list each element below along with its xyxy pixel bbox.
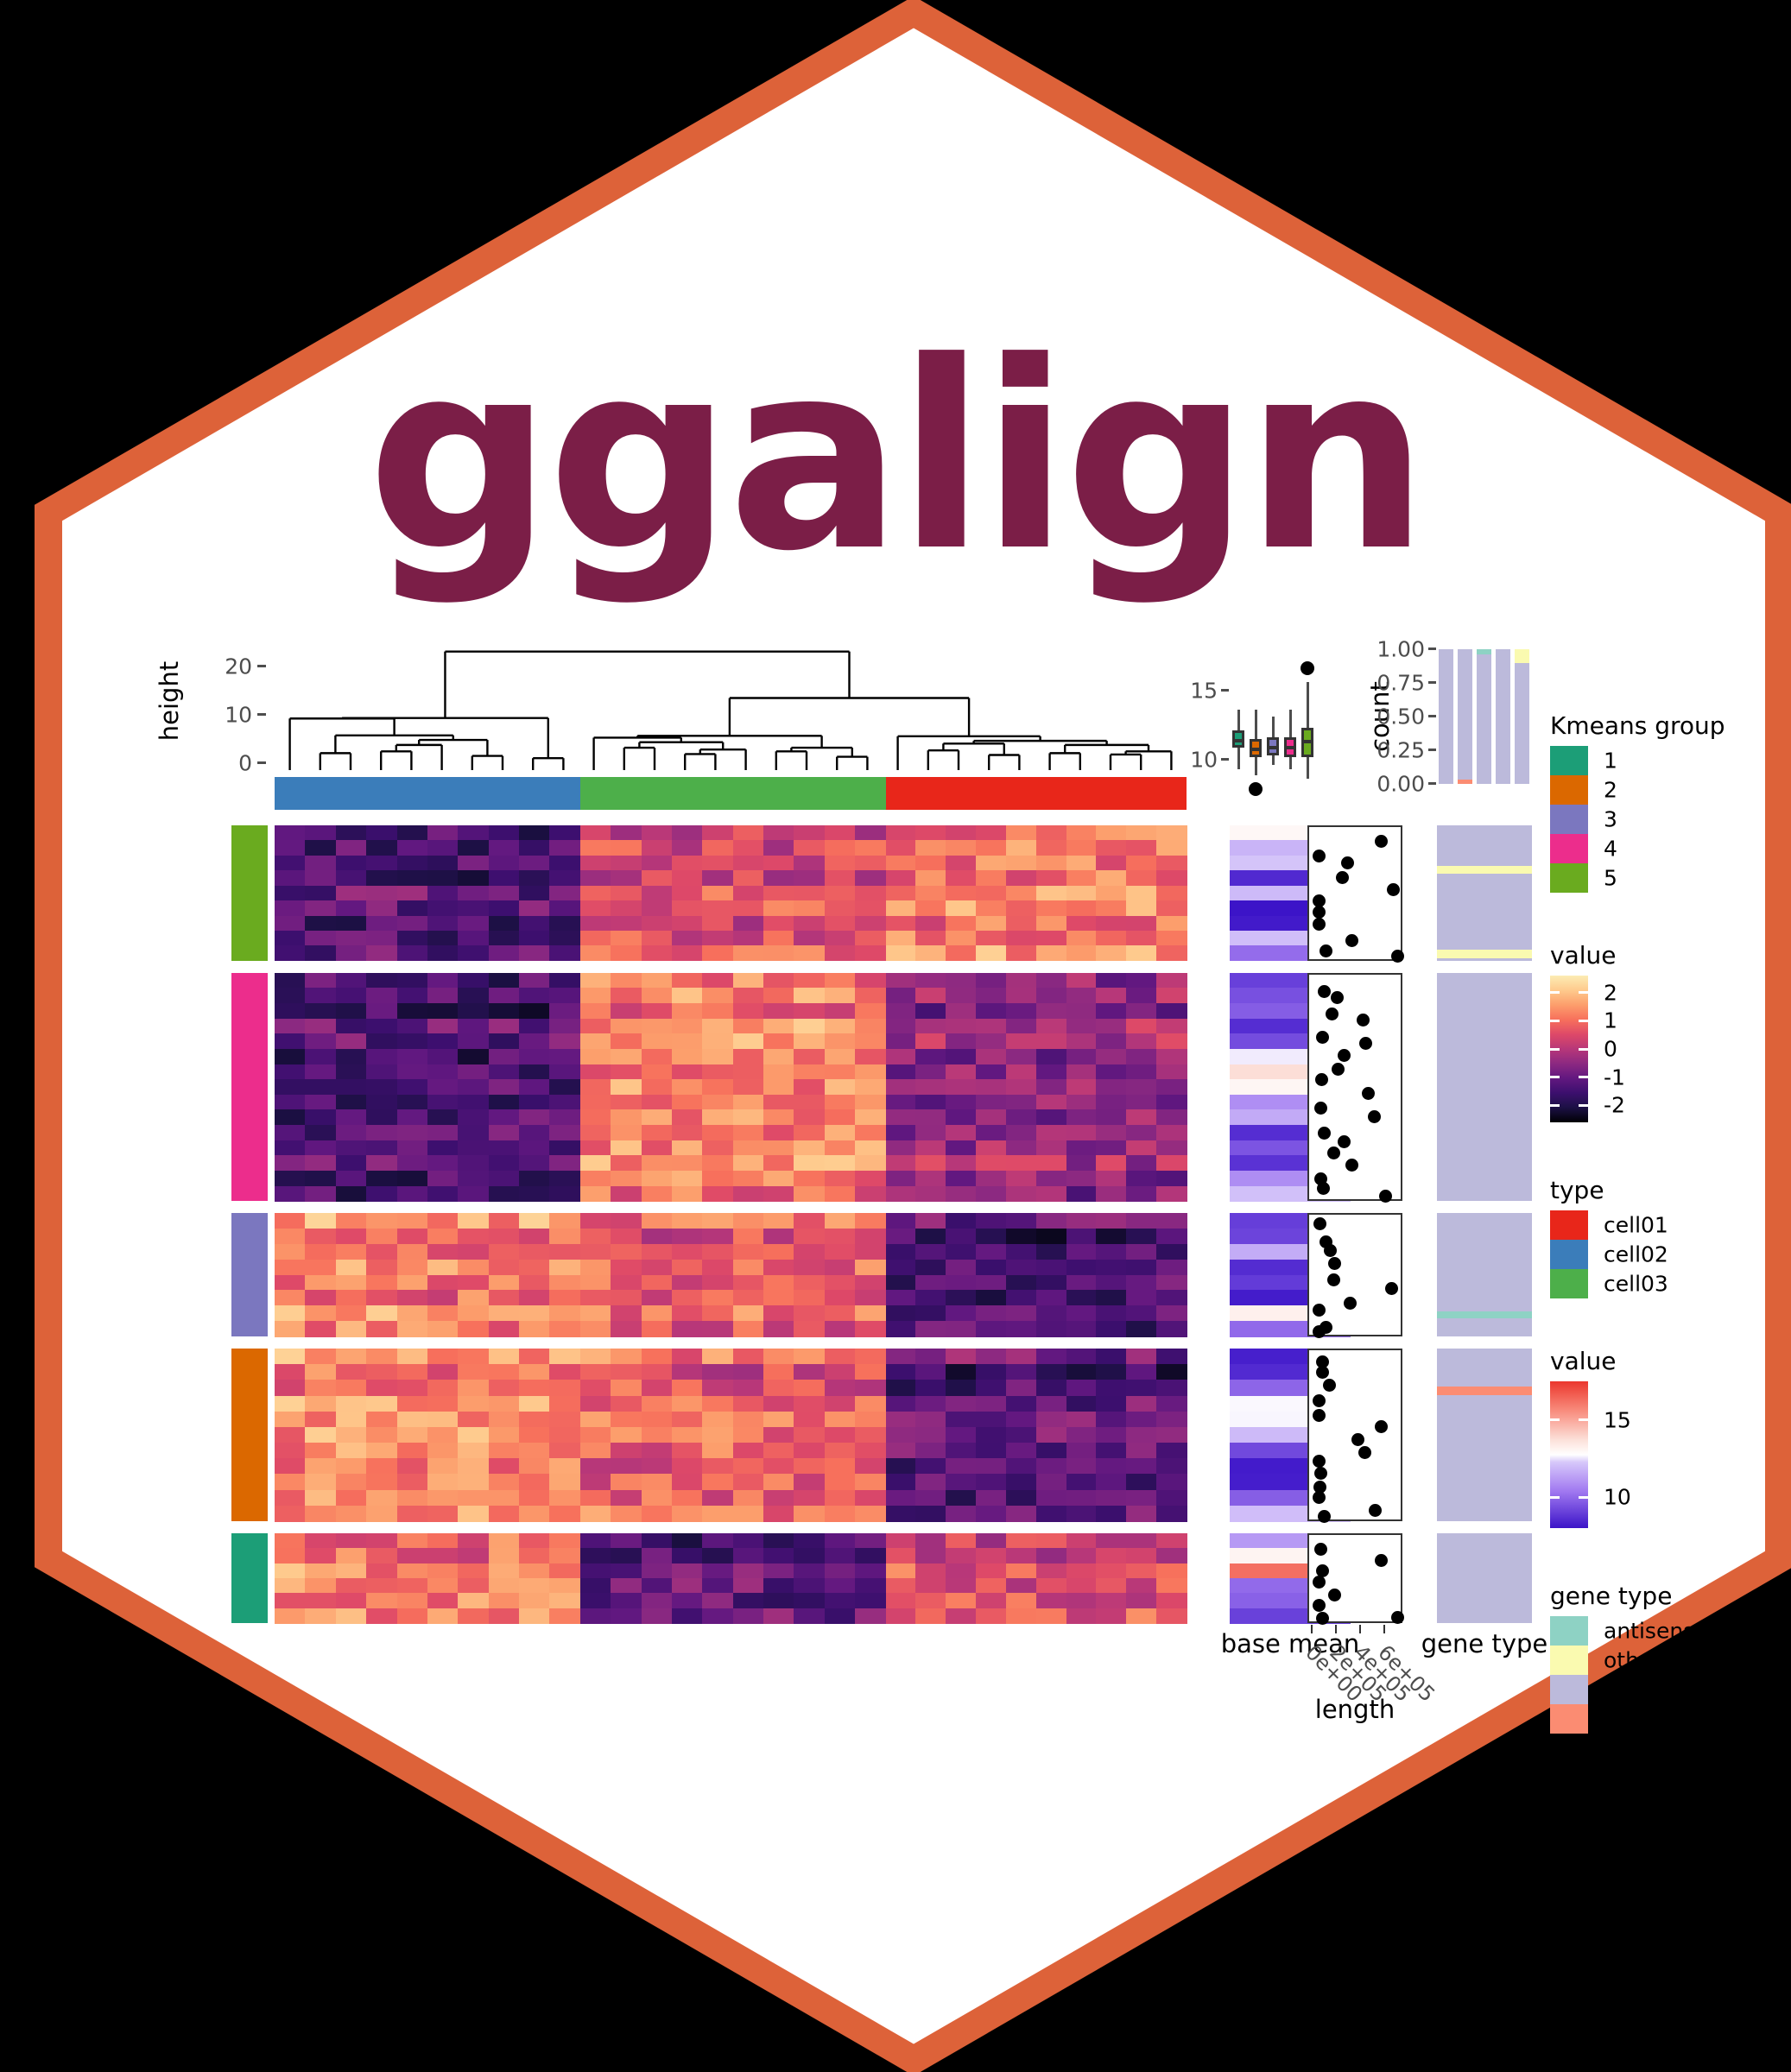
heatmap-cell — [915, 945, 946, 961]
heatmap-cell — [1126, 1364, 1156, 1380]
heatmap-cell — [794, 1321, 825, 1336]
heatmap-cell — [672, 1213, 703, 1229]
heatmap-cell — [763, 1490, 794, 1507]
heatmap-cell — [275, 1125, 306, 1140]
heatmap-cell — [855, 1109, 886, 1125]
heatmap-cell — [275, 1364, 306, 1380]
legend-colorbar-label--2: -2 — [1604, 1093, 1625, 1118]
heatmap-cell — [825, 870, 856, 886]
legend-swatch-Kmeans-group-4[interactable] — [1550, 834, 1588, 863]
heatmap-cell — [794, 988, 825, 1003]
heatmap-cell — [976, 1155, 1006, 1171]
heatmap-cell — [976, 900, 1006, 916]
heatmap-cell — [305, 1506, 336, 1522]
heatmap-cell — [580, 988, 611, 1003]
heatmap-cell — [733, 1260, 764, 1275]
heatmap-cell — [946, 1443, 976, 1459]
heatmap-cell — [611, 1033, 642, 1049]
heatmap-cell — [580, 1171, 611, 1186]
heatmap-cell — [825, 1427, 856, 1443]
heatmap-cell — [580, 973, 611, 989]
heatmap-cell — [366, 840, 397, 856]
heatmap-cell — [672, 886, 703, 901]
heatmap-cell — [886, 886, 916, 901]
heatmap-cell — [519, 1140, 550, 1156]
heatmap-cell — [336, 1290, 367, 1305]
heatmap-cell — [672, 1533, 703, 1549]
heatmap-cell — [794, 1171, 825, 1186]
heatmap-cell — [976, 1064, 1006, 1080]
heatmap-cell — [549, 1155, 580, 1171]
heatmap-cell — [611, 931, 642, 946]
heatmap-cell — [915, 1533, 946, 1549]
heatmap-cell — [855, 1458, 886, 1475]
heatmap-cell — [763, 1064, 794, 1080]
heatmap-cell — [305, 1427, 336, 1443]
heatmap-cell — [427, 1079, 459, 1095]
heatmap-cell — [763, 1305, 794, 1321]
heatmap-cell — [1066, 1155, 1097, 1171]
heatmap-cell — [305, 1380, 336, 1396]
heatmap-cell — [702, 1064, 733, 1080]
dendrogram-tick-20: 20 — [225, 654, 252, 679]
heatmap-cell — [397, 900, 428, 916]
legend-swatch-gene-type-others[interactable] — [1550, 1646, 1588, 1675]
heatmap-cell — [1096, 1443, 1126, 1459]
heatmap-cell — [1066, 1109, 1097, 1125]
count-bar-5-protein_coding — [1439, 649, 1453, 784]
heatmap-cell — [825, 1275, 856, 1291]
heatmap-cell — [642, 1490, 673, 1507]
legend-colorbar-tick — [1579, 1076, 1588, 1078]
dendrogram-tick-mark — [257, 713, 266, 716]
heatmap-cell — [1006, 1412, 1036, 1428]
heatmap-cell — [946, 1186, 976, 1202]
heatmap-cell — [427, 1474, 459, 1490]
heatmap-cell — [1126, 988, 1156, 1003]
heatmap-cell — [763, 1474, 794, 1490]
heatmap-cell — [794, 1095, 825, 1110]
heatmap-cell — [427, 1364, 459, 1380]
heatmap-cell — [794, 945, 825, 961]
heatmap-cell — [427, 988, 459, 1003]
heatmap-cell — [1156, 1474, 1187, 1490]
heatmap-cell — [1066, 1563, 1097, 1579]
heatmap-cell — [1126, 1033, 1156, 1049]
heatmap-cell — [1096, 1033, 1126, 1049]
length-point — [1314, 1543, 1327, 1556]
heatmap-cell — [976, 916, 1006, 932]
heatmap-cell — [976, 1443, 1006, 1459]
gene-type-mark — [1437, 1311, 1532, 1318]
heatmap-cell — [886, 1079, 916, 1095]
heatmap-cell — [1126, 1095, 1156, 1110]
heatmap-cell — [366, 1140, 397, 1156]
legend-swatch-Kmeans-group-5[interactable] — [1550, 863, 1588, 893]
heatmap-cell — [1096, 1125, 1126, 1140]
heatmap-cell — [794, 1458, 825, 1475]
legend-swatch-type-cell03[interactable] — [1550, 1269, 1588, 1298]
heatmap-cell — [672, 973, 703, 989]
heatmap-cell — [549, 870, 580, 886]
heatmap-cell — [825, 1171, 856, 1186]
heatmap-cell — [855, 1229, 886, 1244]
heatmap-cell — [855, 1155, 886, 1171]
heatmap-cell — [397, 1305, 428, 1321]
gene-type-block-5 — [1437, 825, 1532, 961]
heatmap-cell — [489, 1321, 520, 1336]
heatmap-cell — [672, 1412, 703, 1428]
heatmap-cell — [519, 1305, 550, 1321]
heatmap-cell — [1156, 1321, 1187, 1336]
heatmap-cell — [672, 945, 703, 961]
heatmap-cell — [305, 825, 336, 841]
legend-swatch-gene-type-antisense[interactable] — [1550, 1616, 1588, 1646]
heatmap-cell — [733, 840, 764, 856]
heatmap-cell — [702, 1186, 733, 1202]
heatmap-cell — [275, 1244, 306, 1260]
length-point — [1313, 1455, 1326, 1468]
heatmap-cell — [519, 1125, 550, 1140]
heatmap-cell — [611, 916, 642, 932]
heatmap-cell — [794, 870, 825, 886]
heatmap-cell — [763, 1380, 794, 1396]
heatmap-cell — [886, 840, 916, 856]
heatmap-cell — [366, 973, 397, 989]
heatmap-cell — [733, 1095, 764, 1110]
heatmap-cell — [489, 1290, 520, 1305]
heatmap-cell — [519, 1171, 550, 1186]
heatmap-cell — [1126, 1490, 1156, 1507]
heatmap-cell — [1066, 1033, 1097, 1049]
heatmap-cell — [672, 1171, 703, 1186]
heatmap-cell — [366, 1244, 397, 1260]
heatmap-cell — [1156, 1049, 1187, 1064]
heatmap-cell — [946, 973, 976, 989]
legend-swatch-type-cell01[interactable] — [1550, 1210, 1588, 1240]
heatmap-cell — [458, 973, 489, 989]
heatmap-cell — [976, 1244, 1006, 1260]
heatmap-cell — [336, 1229, 367, 1244]
heatmap-cell — [825, 1290, 856, 1305]
heatmap-cell — [1006, 1095, 1036, 1110]
heatmap-cell — [336, 973, 367, 989]
length-scatter-panel — [1307, 825, 1402, 961]
heatmap-cell — [672, 840, 703, 856]
heatmap-cell — [458, 870, 489, 886]
heatmap-cell — [763, 1290, 794, 1305]
heatmap-cell — [763, 1019, 794, 1034]
heatmap-cell — [336, 1049, 367, 1064]
heatmap-cell — [702, 1140, 733, 1156]
heatmap-cell — [1066, 1608, 1097, 1624]
heatmap-cell — [915, 1396, 946, 1412]
heatmap-cell — [397, 1213, 428, 1229]
heatmap-cell — [549, 1275, 580, 1291]
heatmap-cell — [580, 1563, 611, 1579]
heatmap-cell — [336, 900, 367, 916]
heatmap-cell — [946, 1364, 976, 1380]
heatmap-cell — [305, 1033, 336, 1049]
heatmap-cell — [489, 886, 520, 901]
heatmap-cell — [794, 1608, 825, 1624]
heatmap-cell — [519, 1064, 550, 1080]
heatmap-cell — [886, 1244, 916, 1260]
heatmap-cell — [275, 1171, 306, 1186]
heatmap-cell — [825, 1049, 856, 1064]
heatmap-cell — [946, 1458, 976, 1475]
heatmap-cell — [672, 900, 703, 916]
heatmap-cell — [611, 886, 642, 901]
heatmap-cell — [825, 973, 856, 989]
heatmap-cell — [794, 1290, 825, 1305]
heatmap-cell — [397, 945, 428, 961]
heatmap-cell — [1066, 1305, 1097, 1321]
heatmap-cell — [855, 1260, 886, 1275]
heatmap-cell — [763, 1125, 794, 1140]
heatmap-cell — [611, 1260, 642, 1275]
heatmap-cell — [855, 1506, 886, 1522]
heatmap-cell — [336, 1321, 367, 1336]
heatmap-cell — [275, 1033, 306, 1049]
heatmap-cell — [733, 1349, 764, 1365]
heatmap-cell — [915, 1213, 946, 1229]
heatmap-cell — [1036, 825, 1066, 841]
heatmap-cell — [733, 870, 764, 886]
heatmap-cell — [825, 1490, 856, 1507]
heatmap-cell — [1066, 1396, 1097, 1412]
heatmap-cell — [549, 1490, 580, 1507]
heatmap-cell — [366, 1109, 397, 1125]
heatmap-cell — [336, 1396, 367, 1412]
heatmap-cell — [976, 1349, 1006, 1365]
heatmap-cell — [1066, 1003, 1097, 1019]
heatmap-cell — [1096, 825, 1126, 841]
heatmap-cell — [825, 900, 856, 916]
heatmap-cell — [976, 1229, 1006, 1244]
heatmap-cell — [886, 1490, 916, 1507]
heatmap-cell — [642, 1171, 673, 1186]
heatmap-cell — [1006, 1321, 1036, 1336]
heatmap-cell — [886, 916, 916, 932]
heatmap-cell — [275, 1396, 306, 1412]
heatmap-cell — [397, 1506, 428, 1522]
gene-type-mark — [1437, 866, 1532, 874]
heatmap-cell — [336, 1171, 367, 1186]
heatmap-cell — [366, 1171, 397, 1186]
legend-label-1: 1 — [1604, 749, 1617, 774]
heatmap-cell — [1126, 1213, 1156, 1229]
heatmap-cell — [642, 886, 673, 901]
heatmap-cell — [794, 1305, 825, 1321]
heatmap-cell — [672, 1229, 703, 1244]
heatmap-cell — [397, 1290, 428, 1305]
heatmap-cell — [305, 1109, 336, 1125]
length-point — [1313, 1409, 1326, 1422]
heatmap-cell — [1006, 1186, 1036, 1202]
heatmap-cell — [1066, 1049, 1097, 1064]
heatmap-cell — [915, 856, 946, 871]
heatmap-cell — [611, 973, 642, 989]
heatmap-cell — [305, 886, 336, 901]
heatmap-cell — [886, 1380, 916, 1396]
length-point — [1336, 871, 1349, 884]
heatmap-cell — [946, 1490, 976, 1507]
heatmap-cell — [886, 1578, 916, 1594]
heatmap-cell — [946, 886, 976, 901]
heatmap-cell — [580, 1443, 611, 1459]
heatmap-cell — [366, 1260, 397, 1275]
heatmap-cell — [915, 1608, 946, 1624]
heatmap-cell — [366, 870, 397, 886]
heatmap-cell — [794, 1412, 825, 1428]
heatmap-cell — [549, 840, 580, 856]
legend-swatch-gene-type-protein_coding[interactable] — [1550, 1675, 1588, 1704]
heatmap-cell — [886, 1049, 916, 1064]
heatmap-cell — [946, 1125, 976, 1140]
heatmap-cell — [397, 1578, 428, 1594]
heatmap-cell — [702, 931, 733, 946]
heatmap-cell — [733, 1109, 764, 1125]
length-scatter-panel — [1307, 1349, 1402, 1521]
heatmap-cell — [1066, 1533, 1097, 1549]
heatmap-cell — [642, 1443, 673, 1459]
heatmap-cell — [855, 1079, 886, 1095]
heatmap-cell — [642, 1412, 673, 1428]
heatmap-cell — [366, 1321, 397, 1336]
heatmap-cell — [702, 900, 733, 916]
heatmap-cell — [397, 1079, 428, 1095]
legend-swatch-Kmeans-group-1[interactable] — [1550, 746, 1588, 775]
length-point — [1326, 1008, 1339, 1020]
heatmap-cell — [336, 988, 367, 1003]
heatmap-cell — [1126, 1563, 1156, 1579]
heatmap-cell — [702, 1533, 733, 1549]
heatmap-cell — [519, 1155, 550, 1171]
heatmap-cell — [427, 870, 459, 886]
heatmap-cell — [458, 931, 489, 946]
legend-swatch-Kmeans-group-3[interactable] — [1550, 805, 1588, 834]
heatmap-cell — [458, 1275, 489, 1291]
heatmap-cell — [1006, 973, 1036, 989]
heatmap-cell — [458, 1396, 489, 1412]
heatmap-cell — [336, 1213, 367, 1229]
heatmap-cell — [672, 1458, 703, 1475]
heatmap-cell — [489, 1458, 520, 1475]
heatmap-cell — [1126, 1593, 1156, 1608]
heatmap-cell — [976, 1412, 1006, 1428]
heatmap-cell — [946, 1003, 976, 1019]
heatmap-cell — [427, 1064, 459, 1080]
legend-colorbar-tick — [1579, 1496, 1588, 1499]
heatmap-cell — [1096, 1260, 1126, 1275]
legend-swatch-gene-type-pseudogene[interactable] — [1550, 1704, 1588, 1734]
heatmap-cell — [489, 1305, 520, 1321]
heatmap-cell — [672, 1578, 703, 1594]
heatmap-cell — [305, 900, 336, 916]
heatmap-cell — [915, 870, 946, 886]
heatmap-cell — [946, 1260, 976, 1275]
heatmap-cell — [336, 856, 367, 871]
heatmap-cell — [1006, 916, 1036, 932]
heatmap-cell — [458, 840, 489, 856]
heatmap-cell — [702, 1427, 733, 1443]
heatmap-cell — [489, 1427, 520, 1443]
heatmap-cell — [825, 1474, 856, 1490]
heatmap-cell — [763, 1079, 794, 1095]
heatmap-cell — [580, 1578, 611, 1594]
heatmap-cell — [549, 1474, 580, 1490]
heatmap-cell — [886, 1171, 916, 1186]
heatmap-cell — [733, 988, 764, 1003]
heatmap-cell — [702, 1593, 733, 1608]
heatmap-cell — [855, 1396, 886, 1412]
heatmap-cell — [1156, 916, 1187, 932]
heatmap-cell — [1036, 1079, 1066, 1095]
heatmap-cell — [611, 1064, 642, 1080]
legend-swatch-type-cell02[interactable] — [1550, 1240, 1588, 1269]
heatmap-cell — [1156, 1186, 1187, 1202]
heatmap-cell — [702, 1019, 733, 1034]
legend-swatch-Kmeans-group-2[interactable] — [1550, 775, 1588, 805]
heatmap-cell — [855, 1593, 886, 1608]
heatmap-cell — [825, 1079, 856, 1095]
heatmap-cell — [733, 1563, 764, 1579]
heatmap-cell — [275, 1079, 306, 1095]
heatmap-cell — [1036, 1412, 1066, 1428]
heatmap-cell — [336, 1033, 367, 1049]
heatmap-cell — [336, 1380, 367, 1396]
heatmap-cell — [611, 1305, 642, 1321]
heatmap-cell — [763, 1458, 794, 1475]
heatmap-cell — [1096, 1305, 1126, 1321]
heatmap-cell — [855, 1533, 886, 1549]
heatmap-cell — [366, 1019, 397, 1034]
heatmap-cell — [549, 931, 580, 946]
heatmap-cell — [1126, 916, 1156, 932]
heatmap-cell — [946, 1321, 976, 1336]
heatmap-cell — [1036, 916, 1066, 932]
heatmap-cell — [458, 1140, 489, 1156]
heatmap-cell — [519, 1260, 550, 1275]
heatmap-cell — [1096, 1171, 1126, 1186]
legend-label-2: 2 — [1604, 778, 1617, 803]
heatmap-cell — [458, 1305, 489, 1321]
heatmap-cell — [397, 825, 428, 841]
heatmap-cell — [427, 1155, 459, 1171]
heatmap-cell — [946, 1396, 976, 1412]
heatmap-cell — [672, 1427, 703, 1443]
heatmap-cell — [519, 1458, 550, 1475]
heatmap-cell — [305, 1140, 336, 1156]
heatmap-cell — [489, 1213, 520, 1229]
heatmap-cell — [305, 931, 336, 946]
heatmap-cell — [915, 1155, 946, 1171]
heatmap-cell — [549, 1049, 580, 1064]
heatmap-cell — [946, 1533, 976, 1549]
heatmap-cell — [458, 825, 489, 841]
heatmap-cell — [549, 1140, 580, 1156]
legend-label-cell03: cell03 — [1604, 1272, 1668, 1297]
count-bar-3-antisense — [1477, 649, 1491, 654]
heatmap-cell — [702, 1033, 733, 1049]
heatmap-cell — [1006, 1049, 1036, 1064]
heatmap-cell — [580, 900, 611, 916]
heatmap-cell — [1006, 1275, 1036, 1291]
heatmap-cell — [1096, 1364, 1126, 1380]
heatmap-cell — [763, 1321, 794, 1336]
heatmap-cell — [855, 1064, 886, 1080]
